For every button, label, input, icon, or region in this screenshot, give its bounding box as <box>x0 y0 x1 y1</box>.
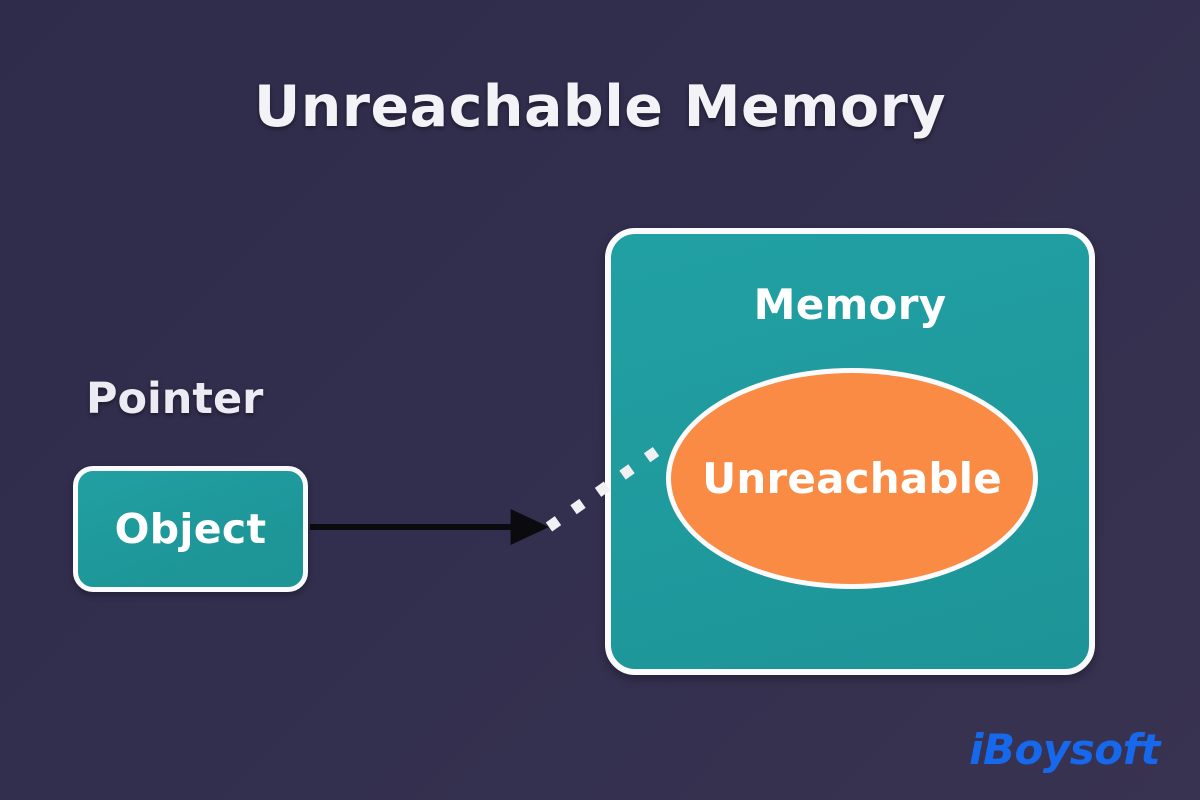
unreachable-node-label: Unreachable <box>702 454 1002 503</box>
object-node: Object <box>73 466 308 592</box>
diagram-canvas: Unreachable Memory Pointer Object Memory… <box>0 0 1200 800</box>
object-node-label: Object <box>115 505 267 553</box>
ibuysoft-logo[interactable]: iBoysoft <box>969 725 1160 774</box>
memory-node-label: Memory <box>611 280 1089 329</box>
memory-node: Memory Unreachable <box>605 228 1095 675</box>
pointer-label: Pointer <box>86 374 263 424</box>
page-title: Unreachable Memory <box>0 74 1200 140</box>
unreachable-node: Unreachable <box>666 368 1038 589</box>
